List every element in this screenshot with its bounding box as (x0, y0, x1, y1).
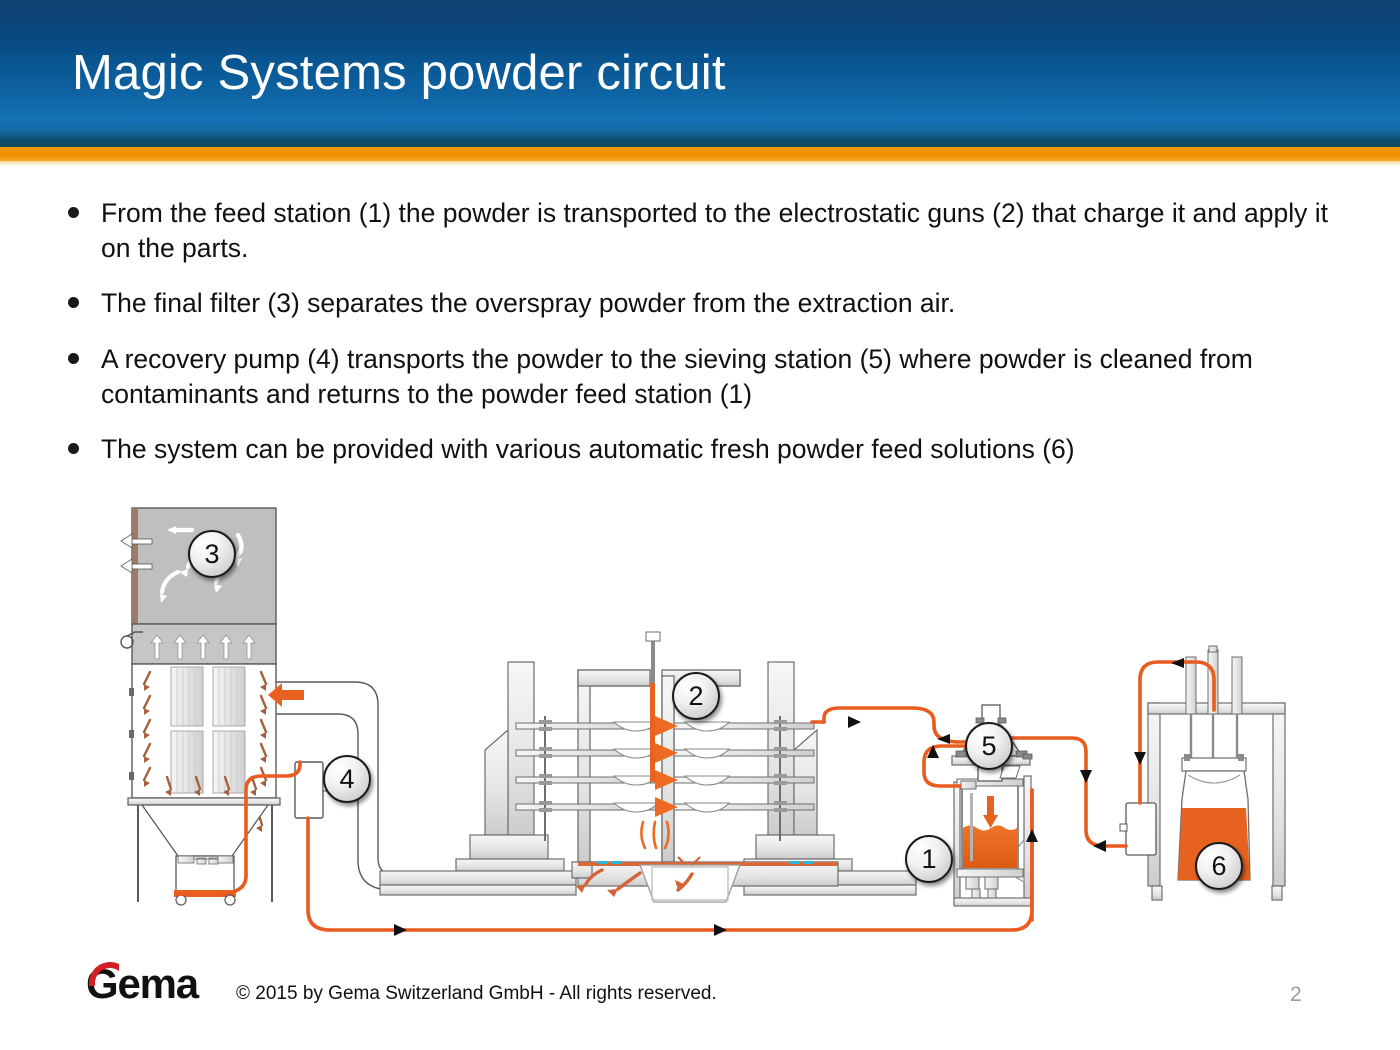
slide-header: Magic Systems powder circuit (0, 0, 1400, 140)
bullet-text: The system can be provided with various … (101, 432, 1075, 467)
header-shine (0, 0, 1400, 44)
copyright-text: © 2015 by Gema Switzerland GmbH - All ri… (236, 983, 717, 1005)
bullet-dot-icon (68, 207, 79, 218)
powder-booth (380, 632, 916, 902)
filter-hopper (142, 805, 268, 905)
header-accent-fade (0, 161, 1400, 166)
diagram-svg (0, 490, 1400, 950)
bullet-list: From the feed station (1) the powder is … (62, 196, 1352, 487)
list-item: The final filter (3) separates the overs… (62, 286, 1352, 321)
page-number: 2 (1290, 983, 1302, 1007)
booth-floor-hopper (640, 865, 740, 902)
list-item: A recovery pump (4) transports the powde… (62, 342, 1352, 412)
booth-feed-arrow-icon (848, 716, 861, 728)
bullet-dot-icon (68, 353, 79, 364)
powder-circuit-diagram: 3 2 4 5 1 6 (0, 490, 1400, 950)
bullet-text: The final filter (3) separates the overs… (101, 286, 955, 321)
bullet-dot-icon (68, 297, 79, 308)
bullet-dot-icon (68, 443, 79, 454)
header-accent-bar (0, 147, 1400, 161)
page-title: Magic Systems powder circuit (72, 48, 726, 99)
recovery-pump (295, 762, 334, 818)
header-divider-line (0, 140, 1400, 147)
final-filter-unit (121, 508, 280, 905)
gema-logo: Gema (86, 962, 212, 1008)
bullet-text: A recovery pump (4) transports the powde… (101, 342, 1352, 412)
list-item: From the feed station (1) the powder is … (62, 196, 1352, 266)
list-item: The system can be provided with various … (62, 432, 1352, 467)
big-bag-station (1120, 646, 1285, 900)
powder-feed-station (954, 748, 1031, 906)
gema-swoosh-icon (89, 960, 119, 986)
bullet-text: From the feed station (1) the powder is … (101, 196, 1352, 266)
